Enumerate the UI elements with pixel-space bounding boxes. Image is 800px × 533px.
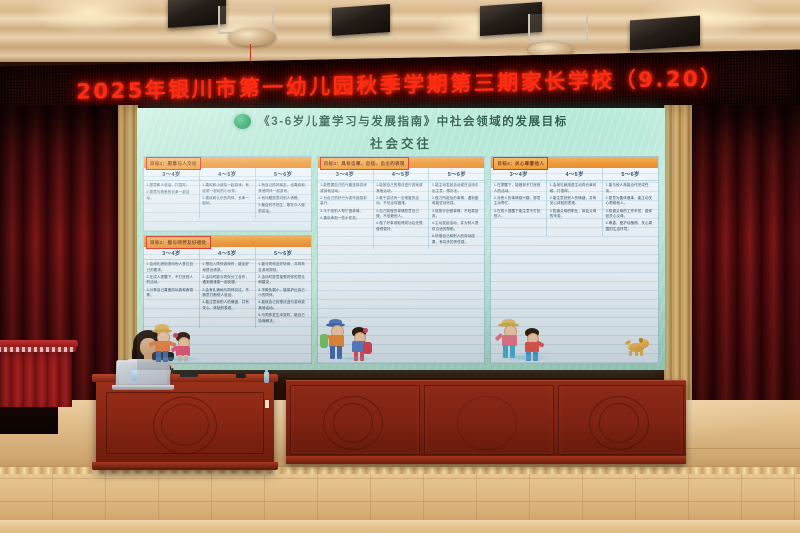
goal-item: 4.主动发起活动，并为别人提供合适的帮助。 [432, 221, 482, 232]
goal-item: 2.能注意到别人的情绪，并有关心体贴的表现。 [550, 196, 600, 207]
ceiling-light-glow [30, 0, 150, 34]
section-header-bar: 目标4：关心尊重他人 [491, 157, 658, 168]
section-header-label: 目标2：能与同伴友好相处 [146, 236, 211, 249]
section-header-label: 目标3：具有自尊、自信、自主的表现 [320, 157, 409, 170]
age-header: 5～6岁 [256, 168, 311, 180]
content-cell: 1.能与同伴友好协商，共同商定游戏规则。 2.活动时愿意接受同伴的意见和建议。 … [256, 260, 311, 328]
goal-item: 1.愿意和人说话、打招呼。 [147, 183, 197, 189]
goal-item: 4.做了好事或取得成功后还想做得更好。 [376, 221, 426, 232]
podium-base [92, 462, 278, 470]
goal-item: 2.喜欢和认识的同伴、长辈一起玩。 [202, 196, 252, 207]
desk-object [236, 374, 246, 378]
slide-header: 《3-6岁儿童学习与发展指南》中社会领域的发展目标 社会交往 [137, 113, 665, 152]
goal-item: 3.在成人提醒下能注意不打扰别人。 [494, 209, 544, 220]
panel-segment [424, 385, 554, 455]
goal-item: 1.能根据自己的兴趣选择游戏或其他活动。 [320, 183, 370, 194]
yellow-puppy-illustration [624, 337, 650, 357]
section-header-bar: 目标1：愿意与人交往 [144, 157, 311, 168]
red-draped-table [0, 345, 72, 407]
goal-item: 1.喜欢和小朋友一起游戏，有经常一起玩的小伙伴。 [202, 183, 252, 194]
panel-segment [558, 385, 684, 455]
ceiling-speaker [630, 16, 700, 51]
goal-item: 5.与同伴发生冲突时，能自己协商解决。 [258, 313, 308, 324]
speaker-bracket [528, 14, 588, 42]
age-header: 4～5岁 [547, 168, 603, 180]
goal-item: 2.有问题愿意向别人请教。 [258, 196, 308, 202]
goal-section: 目标2：能与同伴友好相处 3～4岁 4～5岁 5～6岁 1.会用礼貌用语向他人表… [143, 235, 312, 364]
section-header-bar: 目标3：具有自尊、自信、自主的表现 [318, 157, 485, 168]
auditorium-photo: 2025年银川市第一幼儿园秋季学期第三期家长学校（9.20） 《3-6岁儿童学习… [0, 0, 800, 533]
goal-item: 1.能按自己的想法进行游戏或其他活动。 [376, 183, 426, 194]
goal-item: 1.能与同伴友好协商，共同商定游戏规则。 [258, 262, 308, 273]
age-header: 5～6岁 [603, 168, 658, 180]
goal-item: 2.敢于尝试有一定难度的活动，不怕出现困难。 [376, 196, 426, 207]
green-circle-bullet-icon [234, 114, 251, 129]
goal-section: 目标3：具有自尊、自信、自主的表现 3～4岁 4～5岁 5～6岁 1.能根据自己… [317, 156, 486, 364]
led-banner-text: 2025年银川市第一幼儿园秋季学期第三期家长学校（9.20） [0, 61, 800, 108]
spotlight-fixture [228, 28, 276, 46]
panel-segment [290, 385, 420, 455]
goal-item: 2.活动时能与同伴分工合作，遇到困难能一起克服。 [202, 275, 252, 286]
two-children-with-backpacks-illustration [322, 319, 384, 361]
laptop-lid [116, 360, 171, 386]
section-header-label: 目标4：关心尊重他人 [493, 157, 548, 170]
column-group-2: 目标3：具有自尊、自信、自主的表现 3～4岁 4～5岁 5～6岁 1.能根据自己… [317, 156, 486, 364]
two-children-splashing-illustration [495, 319, 557, 361]
goal-item: 3.会有礼貌地与同伴交往，不随意打断别人说话。 [202, 288, 252, 299]
content-cell: 1.能主动发起活动或在活动中出主意、想办法。 2.做力所能及的事情，遇到困难能坚… [429, 181, 484, 249]
goal-item: 2.愿意为集体做事，能主动关心帮助他人。 [606, 196, 656, 207]
goal-item: 3.自己能做的事情愿意自己做，不依赖他人。 [376, 209, 426, 220]
content-cell: 1.能根据自己的兴趣选择游戏或其他活动。 2.为自己的好行为或作品感到高兴。 3… [318, 181, 374, 249]
content-cell: 1.在提醒下，能做到不打扰别人的活动。 2.对别人的事情感兴趣，愿意主动帮忙。 … [491, 181, 547, 236]
goal-item: 3.知道父母的工作辛苦，能体贴关心父母。 [606, 209, 656, 220]
goal-item: 2.在成人提醒下，不打扰别人的活动。 [147, 275, 197, 286]
goal-item: 1.会用礼貌用语向他人表达自己的要求。 [147, 262, 197, 273]
goal-item: 3.不欺负弱小，能保护比自己小的同伴。 [258, 288, 308, 299]
content-cell: 1.喜欢和小朋友一起游戏，有经常一起玩的小伙伴。 2.喜欢和认识的同伴、长辈一起… [200, 181, 256, 218]
content-cell: 1.愿意和人说话、打招呼。 2.愿意与熟悉的长辈一起活动。 [144, 181, 200, 218]
goal-section: 目标1：愿意与人交往 3～4岁 4～5岁 5～6岁 1.愿意和人说话、打招呼。 … [143, 156, 312, 232]
goal-item: 4.能按自己的想法进行游戏或其他活动。 [258, 300, 308, 311]
goal-item: 3.分享自己喜爱的玩具和食物等。 [147, 288, 197, 299]
age-header: 5～6岁 [429, 168, 484, 180]
content-cell: 1.会用礼貌用语主动向长辈问候、打招呼。 2.能注意到别人的情绪，并有关心体贴的… [547, 181, 603, 236]
goal-item: 2.为自己的好行为或作品感到高兴。 [320, 196, 370, 207]
goal-item: 2.愿意与熟悉的长辈一起活动。 [147, 190, 197, 201]
wooden-podium [96, 378, 274, 470]
content-cell: 1.能按自己的想法进行游戏或其他活动。 2.敢于尝试有一定难度的活动，不怕出现困… [374, 181, 430, 249]
goal-item: 3.能按计划做事情，不轻易放弃。 [432, 209, 482, 220]
goal-item: 3.聚会时不怕生，敢在众人面前讲话。 [258, 203, 308, 214]
goal-item: 5.珍惜自己和别人的劳动成果，有初步的责任感。 [432, 234, 482, 245]
ceiling-speaker [332, 4, 390, 36]
slide-title: 《3-6岁儿童学习与发展指南》中社会领域的发展目标 [258, 113, 568, 129]
goal-item: 1.有自己的好朋友，也喜欢和其他同伴一起游戏。 [258, 183, 308, 194]
goal-item: 1.在提醒下，能做到不打扰别人的活动。 [494, 183, 544, 194]
stage-curtain-right [690, 105, 800, 435]
content-row: 1.愿意和人说话、打招呼。 2.愿意与熟悉的长辈一起活动。 1.喜欢和小朋友一起… [144, 181, 311, 218]
goal-item: 3.知道父母的职业，体会父母的辛劳。 [550, 209, 600, 220]
podium-label-tag [265, 400, 269, 408]
slide-table: 目标1：愿意与人交往 3～4岁 4～5岁 5～6岁 1.愿意和人说话、打招呼。 … [143, 156, 659, 364]
goal-item: 2.做力所能及的事情，遇到困难能坚持完成。 [432, 196, 482, 207]
goal-item: 4.能注意到别人的情绪，并有关心、体贴的表现。 [202, 300, 252, 311]
content-cell: 1.想加入同伴游戏时，能友好地提出请求。 2.活动时能与同伴分工合作，遇到困难能… [200, 260, 256, 328]
content-cell: 1.能与他人商量合作完成任务。 2.愿意为集体做事，能主动关心帮助他人。 3.知… [603, 181, 658, 236]
content-cell: 1.会用礼貌用语向他人表达自己的要求。 2.在成人提醒下，不打扰别人的活动。 3… [144, 260, 200, 328]
content-cell: 1.有自己的好朋友，也喜欢和其他同伴一起游戏。 2.有问题愿意向别人请教。 3.… [256, 181, 311, 218]
goal-item: 1.能主动发起活动或在活动中出主意、想办法。 [432, 183, 482, 194]
content-row: 1.会用礼貌用语向他人表达自己的要求。 2.在成人提醒下，不打扰别人的活动。 3… [144, 260, 311, 328]
laptop-screen [119, 362, 168, 384]
goal-item: 4.喜欢承担一些小任务。 [320, 216, 370, 222]
goal-item: 2.活动时愿意接受同伴的意见和建议。 [258, 275, 308, 286]
column-group-1: 目标1：愿意与人交往 3～4岁 4～5岁 5～6岁 1.愿意和人说话、打招呼。 … [143, 156, 312, 364]
goal-section: 目标4：关心尊重他人 3～4岁 4～5岁 5～6岁 1.在提醒下，能做到不打扰别… [490, 156, 659, 364]
desk-object [180, 372, 198, 377]
section-header-bar: 目标2：能与同伴友好相处 [144, 236, 311, 247]
slide-subtitle: 社会交往 [137, 133, 665, 152]
water-bottle [264, 372, 269, 383]
laptop-base [112, 385, 174, 390]
goal-item: 1.会用礼貌用语主动向长辈问候、打招呼。 [550, 183, 600, 194]
stage-apron [0, 474, 800, 524]
age-header: 5～6岁 [256, 247, 311, 259]
goal-item: 3.乐于给别人帮忙做事情。 [320, 209, 370, 215]
wooden-stage-panels [286, 380, 686, 464]
age-header: 4～5岁 [200, 168, 256, 180]
content-row: 1.能根据自己的兴趣选择游戏或其他活动。 2.为自己的好行为或作品感到高兴。 3… [318, 181, 485, 249]
goal-item: 1.想加入同伴游戏时，能友好地提出请求。 [202, 262, 252, 273]
goal-item: 1.能与他人商量合作完成任务。 [606, 183, 656, 194]
podium-panel-inset [106, 392, 264, 454]
content-row: 1.在提醒下，能做到不打扰别人的活动。 2.对别人的事情感兴趣，愿意主动帮忙。 … [491, 181, 658, 236]
goal-item: 2.对别人的事情感兴趣，愿意主动帮忙。 [494, 196, 544, 207]
projection-screen: 《3-6岁儿童学习与发展指南》中社会领域的发展目标 社会交往 目标1：愿意与人交… [137, 108, 665, 370]
house-floor [0, 520, 800, 533]
goal-item: 4.尊重、爱护动植物，关心周围的生活环境。 [606, 221, 656, 232]
column-group-3: 目标4：关心尊重他人 3～4岁 4～5岁 5～6岁 1.在提醒下，能做到不打扰别… [490, 156, 659, 364]
podium-oval-ornament-inner [161, 404, 209, 446]
section-header-label: 目标1：愿意与人交往 [146, 157, 201, 170]
water-bottle [132, 370, 137, 381]
